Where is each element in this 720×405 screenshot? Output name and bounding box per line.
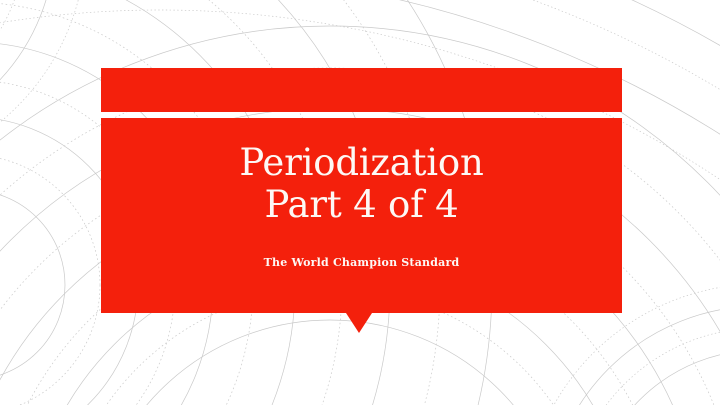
presentation-slide: Periodization Part 4 of 4 The World Cham…: [0, 0, 720, 405]
callout-top-bar: [101, 68, 622, 112]
title-callout: Periodization Part 4 of 4 The World Cham…: [101, 68, 622, 313]
callout-pointer-triangle: [346, 313, 372, 333]
callout-body: [101, 118, 622, 313]
